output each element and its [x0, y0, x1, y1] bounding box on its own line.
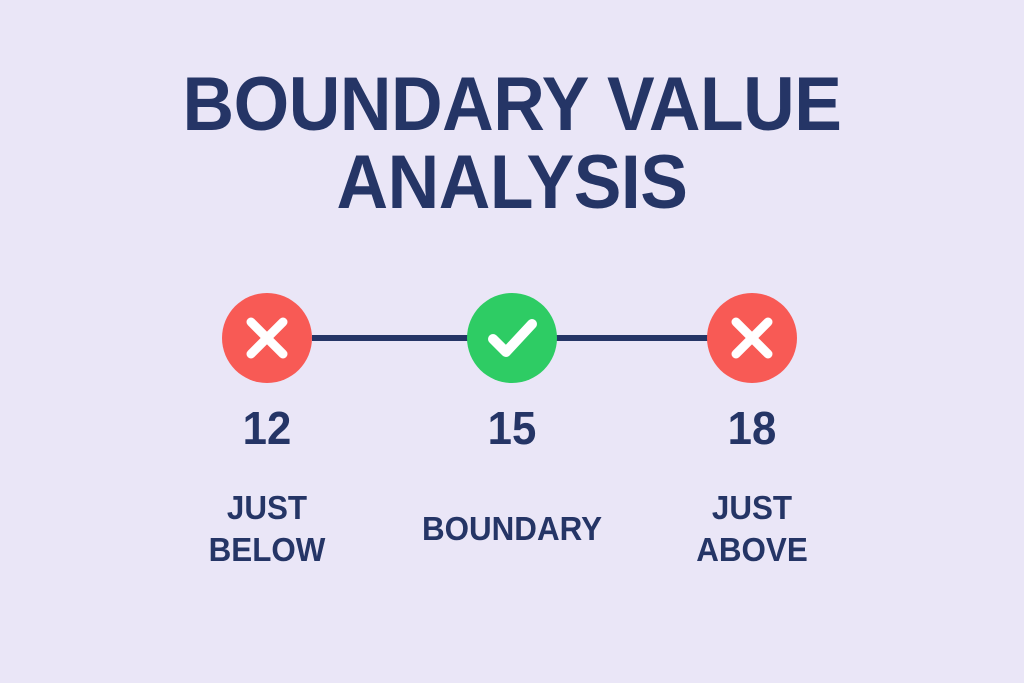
- infographic-canvas: BOUNDARY VALUE ANALYSIS 12 15 18: [0, 0, 1024, 683]
- node-just-below: [222, 293, 312, 383]
- node-just-above: [707, 293, 797, 383]
- connector-line-right: [556, 335, 708, 341]
- boundary-diagram: [0, 293, 1024, 383]
- caption-boundary: BOUNDARY: [398, 508, 626, 550]
- page-title-line-1: BOUNDARY VALUE: [31, 66, 994, 144]
- value-labels: 12 15 18: [0, 405, 1024, 455]
- caption-just-above-line-2: ABOVE: [638, 529, 866, 571]
- caption-just-above-line-1: JUST: [638, 487, 866, 529]
- page-title: BOUNDARY VALUE ANALYSIS: [31, 66, 994, 222]
- caption-just-below-line-1: JUST: [153, 487, 381, 529]
- node-boundary: [467, 293, 557, 383]
- cross-icon: [222, 293, 312, 383]
- value-just-below: 12: [172, 405, 362, 451]
- connector-line-left: [312, 335, 468, 341]
- caption-labels: JUST BELOW BOUNDARY JUST ABOVE: [0, 487, 1024, 577]
- caption-just-below: JUST BELOW: [153, 487, 381, 571]
- page-title-line-2: ANALYSIS: [31, 144, 994, 222]
- check-icon: [467, 293, 557, 383]
- caption-just-below-line-2: BELOW: [153, 529, 381, 571]
- caption-boundary-line-1: BOUNDARY: [398, 508, 626, 550]
- value-boundary: 15: [417, 405, 607, 451]
- value-just-above: 18: [657, 405, 847, 451]
- cross-icon: [707, 293, 797, 383]
- caption-just-above: JUST ABOVE: [638, 487, 866, 571]
